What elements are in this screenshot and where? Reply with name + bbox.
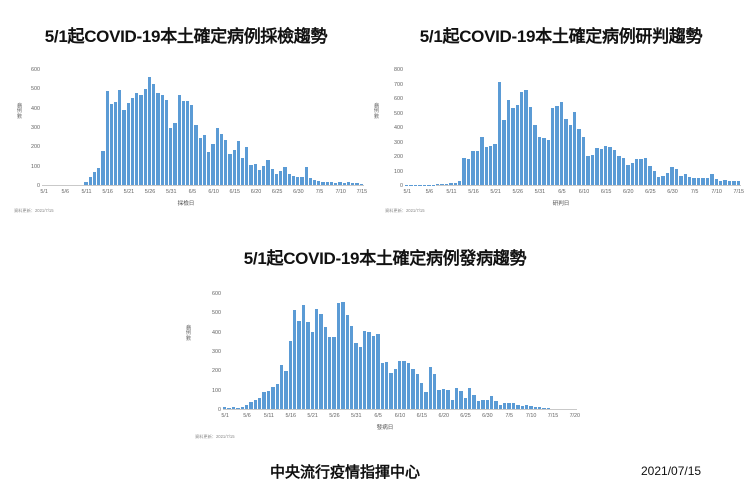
source-note-screening: 資料更新：2021/7/15 bbox=[14, 208, 54, 214]
x-tick-label: 6/20 bbox=[251, 189, 262, 195]
x-tick-label: 5/21 bbox=[307, 413, 318, 419]
source-note-determination: 資料更新：2021/7/15 bbox=[385, 208, 425, 214]
x-axis-title-onset: 發病日 bbox=[185, 423, 585, 431]
chart-title-determination: 5/1起COVID-19本土確定病例研判趨勢 bbox=[375, 26, 747, 48]
x-tick-label: 6/5 bbox=[189, 189, 197, 195]
y-tick-label: 200 bbox=[212, 368, 221, 374]
y-tick-label: 600 bbox=[394, 96, 403, 102]
x-tick-label: 7/15 bbox=[734, 189, 745, 195]
x-tick-label: 6/10 bbox=[579, 189, 590, 195]
x-tick-label: 7/5 bbox=[506, 413, 514, 419]
x-tick-label: 7/5 bbox=[691, 189, 699, 195]
chart-title-screening: 5/1起COVID-19本土確定病例採檢趨勢 bbox=[0, 26, 372, 48]
x-tick-label: 7/10 bbox=[711, 189, 722, 195]
x-tick-label: 5/21 bbox=[124, 189, 135, 195]
x-tick-label: 5/6 bbox=[426, 189, 434, 195]
x-tick-label: 5/26 bbox=[145, 189, 156, 195]
x-tick-label: 7/15 bbox=[548, 413, 559, 419]
y-tick-label: 500 bbox=[394, 111, 403, 117]
y-tick-label: 300 bbox=[212, 349, 221, 355]
x-axis-ticks-screening: 5/15/65/115/165/215/265/316/56/106/156/2… bbox=[42, 189, 364, 199]
y-tick-label: 200 bbox=[31, 144, 40, 150]
chart-plot-screening: 病例數 0100200300400500600 5/15/65/115/165/… bbox=[0, 56, 372, 206]
chart-panel-determination: 5/1起COVID-19本土確定病例研判趨勢 病例數 0100200300400… bbox=[375, 26, 747, 231]
y-tick-label: 500 bbox=[212, 310, 221, 316]
x-tick-label: 6/25 bbox=[645, 189, 656, 195]
x-tick-label: 6/10 bbox=[208, 189, 219, 195]
y-tick-label: 300 bbox=[31, 125, 40, 131]
x-tick-label: 5/16 bbox=[285, 413, 296, 419]
x-tick-label: 6/5 bbox=[558, 189, 566, 195]
x-tick-label: 5/16 bbox=[468, 189, 479, 195]
x-tick-label: 6/15 bbox=[230, 189, 241, 195]
x-tick-label: 6/20 bbox=[623, 189, 634, 195]
x-tick-label: 7/20 bbox=[570, 413, 581, 419]
x-tick-label: 6/20 bbox=[438, 413, 449, 419]
x-tick-label: 6/10 bbox=[395, 413, 406, 419]
y-tick-label: 600 bbox=[31, 67, 40, 73]
y-tick-label: 100 bbox=[212, 388, 221, 394]
x-tick-label: 6/30 bbox=[482, 413, 493, 419]
x-tick-label: 5/6 bbox=[62, 189, 70, 195]
x-tick-label: 6/30 bbox=[667, 189, 678, 195]
y-tick-label: 500 bbox=[31, 86, 40, 92]
chart-title-onset: 5/1起COVID-19本土確定病例發病趨勢 bbox=[185, 248, 585, 270]
chart-panel-onset: 5/1起COVID-19本土確定病例發病趨勢 病例數 0100200300400… bbox=[185, 248, 585, 453]
x-axis-title-determination: 研判日 bbox=[375, 199, 747, 207]
x-tick-label: 5/31 bbox=[351, 413, 362, 419]
bars-container-screening bbox=[42, 70, 364, 186]
y-tick-label: 200 bbox=[394, 154, 403, 160]
x-tick-label: 6/30 bbox=[293, 189, 304, 195]
x-tick-label: 6/5 bbox=[374, 413, 382, 419]
chart-plot-determination: 病例數 0100200300400500600700800 5/15/65/11… bbox=[375, 56, 747, 206]
x-tick-label: 7/10 bbox=[335, 189, 346, 195]
x-tick-label: 5/11 bbox=[446, 189, 456, 195]
y-tick-label: 400 bbox=[212, 330, 221, 336]
slide-root: 5/1起COVID-19本土確定病例採檢趨勢 病例數 0100200300400… bbox=[0, 0, 750, 500]
y-tick-label: 400 bbox=[31, 106, 40, 112]
bars-container-determination bbox=[405, 70, 741, 186]
x-tick-label: 6/15 bbox=[601, 189, 612, 195]
x-tick-label: 5/1 bbox=[40, 189, 48, 195]
y-tick-label: 100 bbox=[31, 164, 40, 170]
x-tick-label: 5/26 bbox=[329, 413, 340, 419]
footer-organization: 中央流行疫情指揮中心 bbox=[270, 461, 420, 482]
x-tick-label: 7/15 bbox=[357, 189, 368, 195]
x-axis-title-screening: 採檢日 bbox=[0, 199, 372, 207]
y-tick-label: 700 bbox=[394, 82, 403, 88]
x-tick-label: 5/1 bbox=[221, 413, 229, 419]
x-tick-label: 5/31 bbox=[166, 189, 177, 195]
bar bbox=[547, 408, 551, 409]
x-tick-label: 5/6 bbox=[243, 413, 251, 419]
x-tick-label: 5/11 bbox=[81, 189, 91, 195]
x-tick-label: 5/11 bbox=[264, 413, 274, 419]
y-tick-label: 300 bbox=[394, 140, 403, 146]
x-tick-label: 6/15 bbox=[417, 413, 428, 419]
y-tick-label: 600 bbox=[212, 291, 221, 297]
chart-plot-onset: 病例數 0100200300400500600 5/15/65/115/165/… bbox=[185, 280, 585, 430]
x-tick-label: 6/25 bbox=[272, 189, 283, 195]
x-tick-label: 5/16 bbox=[102, 189, 113, 195]
source-note-onset: 資料更新：2021/7/15 bbox=[195, 434, 235, 440]
y-axis-ticks-determination: 0100200300400500600700800 bbox=[375, 56, 403, 186]
y-tick-label: 400 bbox=[394, 125, 403, 131]
bars-container-onset bbox=[223, 294, 577, 410]
footer-date: 2021/07/15 bbox=[641, 464, 701, 478]
x-axis-ticks-onset: 5/15/65/115/165/215/265/316/56/106/156/2… bbox=[223, 413, 577, 423]
bar bbox=[737, 181, 741, 185]
x-tick-label: 6/25 bbox=[460, 413, 471, 419]
y-tick-label: 100 bbox=[394, 169, 403, 175]
y-tick-label: 800 bbox=[394, 67, 403, 73]
x-tick-label: 5/1 bbox=[403, 189, 411, 195]
bar bbox=[360, 184, 364, 185]
x-tick-label: 7/5 bbox=[316, 189, 324, 195]
x-tick-label: 5/21 bbox=[490, 189, 501, 195]
x-tick-label: 5/31 bbox=[535, 189, 546, 195]
y-axis-ticks-screening: 0100200300400500600 bbox=[0, 56, 40, 186]
x-axis-ticks-determination: 5/15/65/115/165/215/265/316/56/106/156/2… bbox=[405, 189, 741, 199]
chart-panel-screening: 5/1起COVID-19本土確定病例採檢趨勢 病例數 0100200300400… bbox=[0, 26, 372, 231]
x-tick-label: 5/26 bbox=[512, 189, 523, 195]
x-tick-label: 7/10 bbox=[526, 413, 537, 419]
y-axis-ticks-onset: 0100200300400500600 bbox=[185, 280, 221, 410]
